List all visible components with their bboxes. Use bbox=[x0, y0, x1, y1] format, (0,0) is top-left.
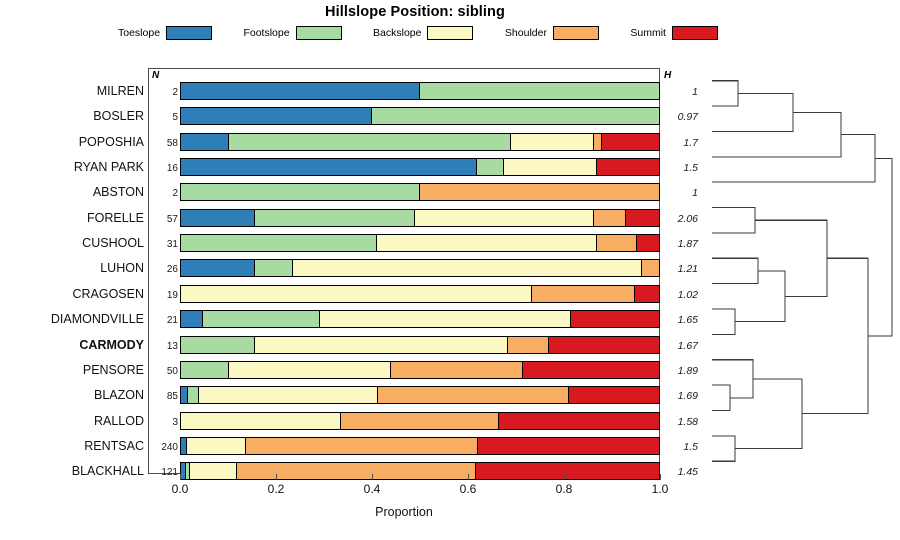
series-name-label: BLAZON bbox=[4, 388, 144, 402]
bar-row[interactable] bbox=[180, 234, 660, 252]
legend-label: Backslope bbox=[373, 27, 421, 39]
n-value: 21 bbox=[148, 315, 178, 326]
bar-segment-backslope bbox=[229, 362, 392, 378]
legend-item-backslope[interactable]: Backslope bbox=[373, 26, 473, 40]
bar-row[interactable] bbox=[180, 209, 660, 227]
bar-row[interactable] bbox=[180, 183, 660, 201]
series-name-label: ABSTON bbox=[4, 185, 144, 199]
bar-segment-footslope bbox=[188, 387, 199, 403]
n-value: 5 bbox=[148, 112, 178, 123]
series-name-column: MILRENBOSLERPOPOSHIARYAN PARKABSTONFOREL… bbox=[0, 68, 144, 474]
legend-item-summit[interactable]: Summit bbox=[630, 26, 718, 40]
bar-row[interactable] bbox=[180, 412, 660, 430]
bar-segment-toeslope bbox=[181, 311, 203, 327]
bar-segment-summit bbox=[597, 159, 659, 175]
bar-segment-summit bbox=[478, 438, 659, 454]
bar-segment-toeslope bbox=[181, 387, 188, 403]
n-value: 240 bbox=[148, 442, 178, 453]
bar-segment-backslope bbox=[187, 438, 247, 454]
bar-segment-shoulder bbox=[597, 235, 638, 251]
x-axis-tick bbox=[564, 474, 565, 480]
bar-segment-toeslope bbox=[181, 83, 420, 99]
legend-swatch-icon bbox=[672, 26, 718, 40]
bar-segment-summit bbox=[602, 134, 659, 150]
series-name-label: RENTSAC bbox=[4, 439, 144, 453]
bar-segment-shoulder bbox=[378, 387, 569, 403]
n-value: 3 bbox=[148, 417, 178, 428]
bar-row[interactable] bbox=[180, 336, 660, 354]
bar-segment-backslope bbox=[511, 134, 595, 150]
series-name-label: CUSHOOL bbox=[4, 236, 144, 250]
legend: ToeslopeFootslopeBackslopeShoulderSummit bbox=[118, 24, 718, 42]
bar-segment-toeslope bbox=[181, 108, 372, 124]
n-value: 16 bbox=[148, 163, 178, 174]
n-value: 13 bbox=[148, 341, 178, 352]
x-axis-tick-label: 0.4 bbox=[352, 482, 392, 496]
series-name-label: BOSLER bbox=[4, 109, 144, 123]
bar-segment-summit bbox=[569, 387, 659, 403]
bar-segment-backslope bbox=[181, 413, 341, 429]
bar-segment-footslope bbox=[181, 362, 229, 378]
series-name-label: MILREN bbox=[4, 84, 144, 98]
bar-segment-backslope bbox=[293, 260, 642, 276]
x-axis-tick-label: 1.0 bbox=[640, 482, 680, 496]
series-name-label: PENSORE bbox=[4, 363, 144, 377]
bar-segment-toeslope bbox=[181, 159, 477, 175]
legend-item-shoulder[interactable]: Shoulder bbox=[505, 26, 599, 40]
bar-row[interactable] bbox=[180, 285, 660, 303]
n-value: 26 bbox=[148, 264, 178, 275]
stacked-bars bbox=[180, 68, 660, 474]
bar-segment-shoulder bbox=[594, 210, 625, 226]
bar-segment-summit bbox=[571, 311, 659, 327]
x-axis-tick bbox=[276, 474, 277, 480]
bar-segment-footslope bbox=[477, 159, 503, 175]
bar-segment-shoulder bbox=[508, 337, 549, 353]
chart-title: Hillslope Position: sibling bbox=[0, 4, 830, 20]
chart-root: Hillslope Position: sibling ToeslopeFoot… bbox=[0, 0, 900, 540]
bar-row[interactable] bbox=[180, 386, 660, 404]
bar-segment-shoulder bbox=[642, 260, 659, 276]
n-value: 19 bbox=[148, 290, 178, 301]
legend-label: Summit bbox=[630, 27, 666, 39]
n-value: 50 bbox=[148, 366, 178, 377]
bar-segment-backslope bbox=[181, 286, 532, 302]
x-axis-tick bbox=[372, 474, 373, 480]
legend-swatch-icon bbox=[296, 26, 342, 40]
legend-label: Toeslope bbox=[118, 27, 160, 39]
bar-segment-footslope bbox=[203, 311, 320, 327]
bar-segment-shoulder bbox=[246, 438, 478, 454]
bar-segment-summit bbox=[635, 286, 659, 302]
series-name-label: DIAMONDVILLE bbox=[4, 312, 144, 326]
bar-row[interactable] bbox=[180, 158, 660, 176]
legend-label: Shoulder bbox=[505, 27, 547, 39]
legend-swatch-icon bbox=[553, 26, 599, 40]
bar-segment-summit bbox=[637, 235, 659, 251]
bar-segment-backslope bbox=[504, 159, 597, 175]
bar-segment-footslope bbox=[181, 235, 377, 251]
bar-segment-summit bbox=[626, 210, 659, 226]
n-value: 31 bbox=[148, 239, 178, 250]
bar-segment-footslope bbox=[372, 108, 659, 124]
bar-segment-footslope bbox=[420, 83, 659, 99]
bar-row[interactable] bbox=[180, 133, 660, 151]
bar-row[interactable] bbox=[180, 107, 660, 125]
bar-segment-shoulder bbox=[391, 362, 522, 378]
bar-segment-footslope bbox=[229, 134, 511, 150]
series-name-label: LUHON bbox=[4, 261, 144, 275]
legend-label: Footslope bbox=[243, 27, 289, 39]
bar-segment-shoulder bbox=[532, 286, 635, 302]
series-name-label: CARMODY bbox=[4, 338, 144, 352]
dendrogram-svg bbox=[690, 60, 900, 480]
bar-row[interactable] bbox=[180, 259, 660, 277]
bar-segment-footslope bbox=[181, 184, 420, 200]
bar-segment-backslope bbox=[199, 387, 378, 403]
legend-item-toeslope[interactable]: Toeslope bbox=[118, 26, 212, 40]
bar-segment-footslope bbox=[255, 210, 415, 226]
series-name-label: RALLOD bbox=[4, 414, 144, 428]
x-axis-tick bbox=[660, 474, 661, 480]
bar-segment-shoulder bbox=[420, 184, 659, 200]
series-name-label: RYAN PARK bbox=[4, 160, 144, 174]
bar-segment-shoulder bbox=[594, 134, 601, 150]
bar-segment-summit bbox=[549, 337, 659, 353]
x-axis-tick-label: 0.6 bbox=[448, 482, 488, 496]
series-name-label: FORELLE bbox=[4, 211, 144, 225]
x-axis-tick bbox=[468, 474, 469, 480]
x-axis-tick-label: 0.2 bbox=[256, 482, 296, 496]
bar-row[interactable] bbox=[180, 82, 660, 100]
bar-segment-footslope bbox=[255, 260, 293, 276]
series-name-label: BLACKHALL bbox=[4, 464, 144, 478]
bar-segment-backslope bbox=[415, 210, 594, 226]
n-value: 58 bbox=[148, 138, 178, 149]
x-axis-tick-label: 0.0 bbox=[160, 482, 200, 496]
bar-segment-toeslope bbox=[181, 210, 255, 226]
legend-swatch-icon bbox=[427, 26, 473, 40]
n-value: 57 bbox=[148, 214, 178, 225]
dendrogram bbox=[690, 60, 900, 480]
series-name-label: CRAGOSEN bbox=[4, 287, 144, 301]
bar-segment-footslope bbox=[181, 337, 255, 353]
x-axis-tick bbox=[180, 474, 181, 480]
series-name-label: POPOSHIA bbox=[4, 135, 144, 149]
bar-segment-toeslope bbox=[181, 260, 255, 276]
bar-segment-shoulder bbox=[341, 413, 499, 429]
bar-segment-backslope bbox=[377, 235, 597, 251]
n-column: 255816257312619211350853240121 bbox=[148, 68, 180, 474]
bar-row[interactable] bbox=[180, 361, 660, 379]
n-value: 2 bbox=[148, 87, 178, 98]
legend-swatch-icon bbox=[166, 26, 212, 40]
bar-segment-summit bbox=[499, 413, 659, 429]
bar-segment-toeslope bbox=[181, 134, 229, 150]
bar-segment-backslope bbox=[255, 337, 508, 353]
n-value: 2 bbox=[148, 188, 178, 199]
bar-row[interactable] bbox=[180, 437, 660, 455]
n-value: 85 bbox=[148, 391, 178, 402]
bar-row[interactable] bbox=[180, 310, 660, 328]
bar-segment-backslope bbox=[320, 311, 571, 327]
bar-segment-summit bbox=[523, 362, 659, 378]
x-axis-tick-label: 0.8 bbox=[544, 482, 584, 496]
legend-item-footslope[interactable]: Footslope bbox=[243, 26, 341, 40]
x-axis-title: Proportion bbox=[148, 505, 660, 519]
